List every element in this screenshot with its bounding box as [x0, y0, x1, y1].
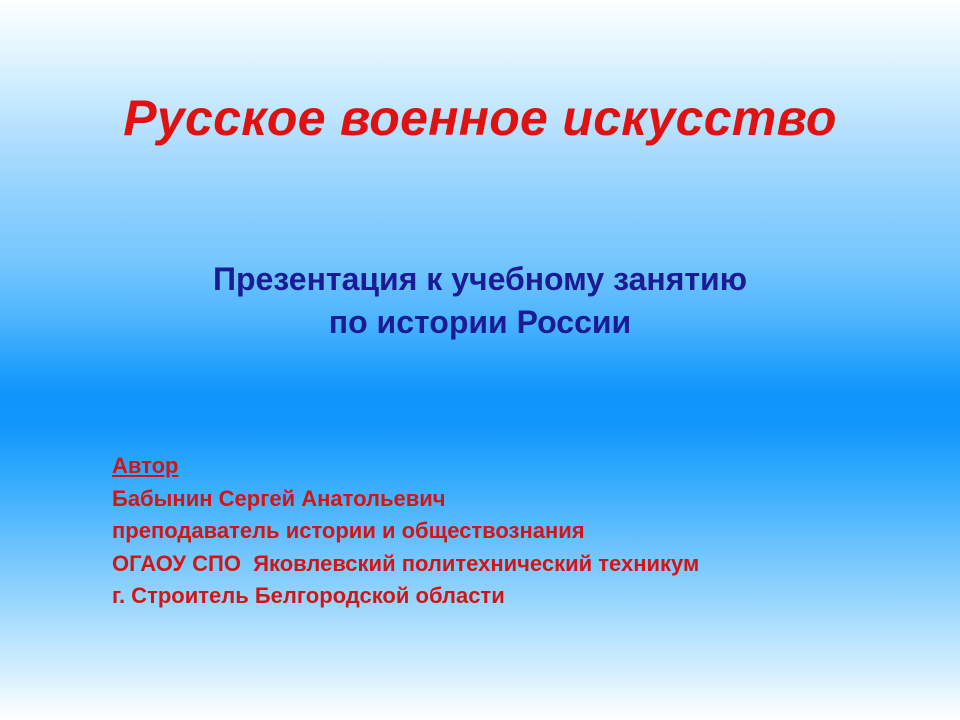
author-institution: ОГАОУ СПО Яковлевский политехнический те…	[112, 548, 699, 581]
author-block: Автор Бабынин Сергей Анатольевич препода…	[112, 450, 699, 613]
author-name: Бабынин Сергей Анатольевич	[112, 483, 699, 516]
slide-title: Русское военное искусство	[123, 92, 836, 145]
author-position: преподаватель истории и обществознания	[112, 515, 699, 548]
subtitle-line-2: по истории России	[0, 301, 960, 344]
author-heading: Автор	[112, 450, 699, 483]
author-location: г. Строитель Белгородской области	[112, 580, 699, 613]
subtitle-block: Презентация к учебному занятию по истори…	[0, 258, 960, 344]
title-block: Русское военное искусство	[0, 92, 960, 145]
subtitle-line-1: Презентация к учебному занятию	[0, 258, 960, 301]
presentation-slide: Русское военное искусство Презентация к …	[0, 0, 960, 720]
